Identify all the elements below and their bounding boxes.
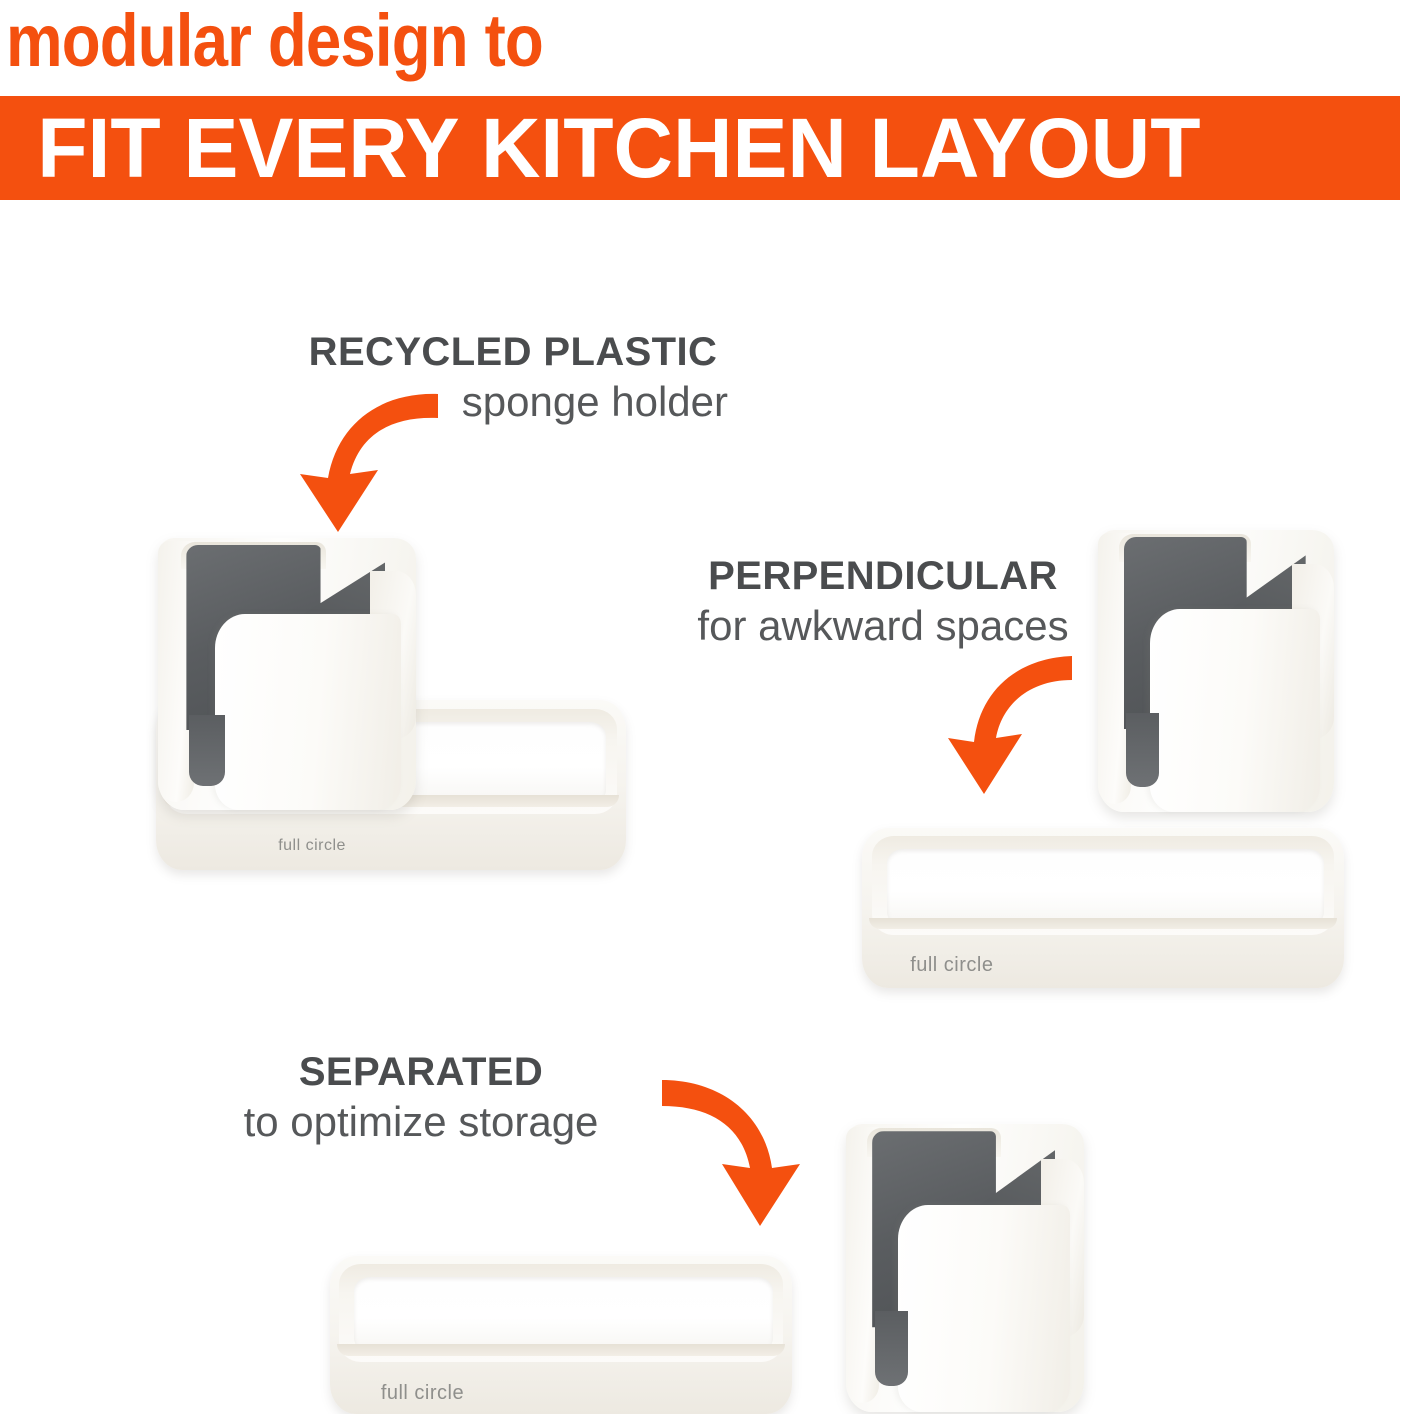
sponge-holder — [1098, 530, 1334, 812]
product-tray-separated: full circle — [330, 1256, 800, 1414]
callout-subtitle: for awkward spaces — [660, 600, 1106, 652]
product-sponge-holder-separated — [846, 1124, 1096, 1414]
callout-title: PERPENDICULAR — [660, 552, 1106, 600]
sponge-holder — [846, 1124, 1084, 1412]
holder-front-panel — [215, 614, 401, 810]
holder-drain-slot — [189, 715, 225, 786]
holder-front-panel — [1150, 609, 1320, 812]
holder-front-panel — [898, 1205, 1069, 1412]
holder-drain-slot — [875, 1311, 908, 1386]
tray: full circle — [330, 1256, 792, 1414]
callout-title: RECYCLED PLASTIC — [290, 328, 736, 376]
callout-separated: SEPARATED to optimize storage — [196, 1048, 646, 1148]
callout-title: SEPARATED — [196, 1048, 646, 1096]
callout-perpendicular: PERPENDICULAR for awkward spaces — [660, 552, 1106, 652]
headline-banner-text: FIT EVERY KITCHEN LAYOUT — [0, 106, 1201, 190]
tray-lip — [869, 918, 1337, 929]
product-sponge-holder-on-tray: full circle — [148, 530, 648, 880]
curved-arrow-down-left-icon — [940, 648, 1100, 798]
brand-mark: full circle — [278, 837, 346, 855]
tray-well — [354, 1277, 773, 1353]
brand-mark: full circle — [381, 1382, 464, 1405]
tray: full circle — [862, 828, 1344, 988]
product-tray-perpendicular: full circle — [862, 828, 1352, 998]
headline-eyebrow: modular design to — [6, 0, 543, 84]
tray-well — [887, 849, 1324, 926]
tray-lip — [337, 1344, 785, 1355]
holder-drain-slot — [1126, 713, 1159, 786]
sponge-holder — [158, 538, 416, 810]
headline-banner: FIT EVERY KITCHEN LAYOUT — [0, 96, 1400, 200]
curved-arrow-down-right-icon — [648, 1068, 818, 1233]
product-infographic-page: { "header": { "eyebrow": "modular design… — [0, 0, 1408, 1414]
product-sponge-holder-perpendicular — [1098, 530, 1348, 820]
callout-subtitle: to optimize storage — [196, 1096, 646, 1148]
brand-mark: full circle — [910, 954, 993, 977]
curved-arrow-down-left-icon — [286, 382, 476, 542]
